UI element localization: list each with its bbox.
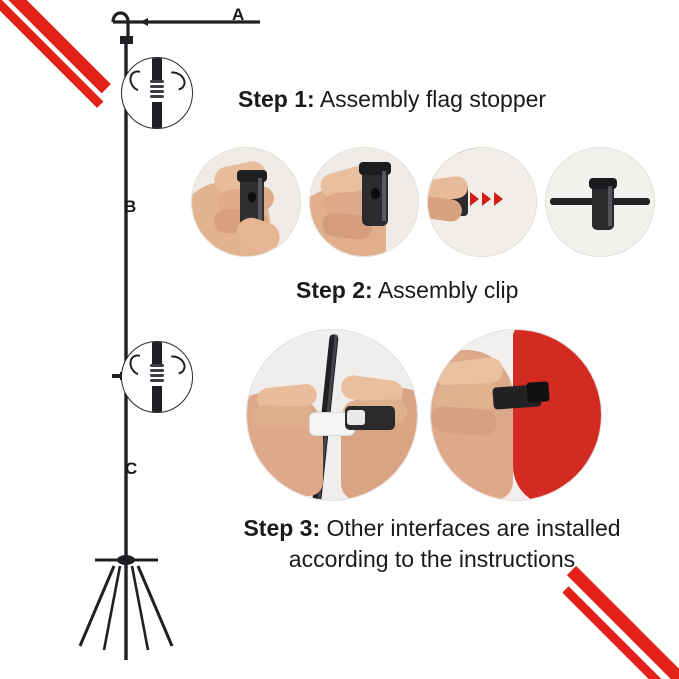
top-threaded-joint-detail-icon bbox=[121, 57, 193, 129]
step-3-text: Other interfaces are installed bbox=[327, 515, 621, 541]
pole-label-c: C bbox=[125, 459, 137, 479]
instruction-sheet: A B C Step 1: Assembly flag stopper bbox=[0, 0, 679, 679]
step-2-label: Step 2: bbox=[296, 277, 373, 303]
photo-stopper-mounted-on-rod bbox=[545, 147, 655, 257]
photo-two-hands-attaching-clip-to-pole bbox=[246, 329, 418, 501]
step-3-label: Step 3: bbox=[243, 515, 320, 541]
lower-threaded-joint-detail-icon bbox=[121, 341, 193, 413]
photo-hand-holding-stopper bbox=[191, 147, 301, 257]
photo-clip-attached-to-red-flag bbox=[430, 329, 602, 501]
pole-label-b: B bbox=[124, 197, 136, 217]
photo-stopper-closeup-in-fingers bbox=[309, 147, 419, 257]
pole-label-a: A bbox=[232, 5, 244, 25]
step-1-label: Step 1: bbox=[238, 86, 315, 112]
step-2-title: Step 2: Assembly clip bbox=[296, 277, 518, 304]
step-1-title: Step 1: Assembly flag stopper bbox=[238, 86, 546, 113]
step-2-text: Assembly clip bbox=[378, 277, 519, 303]
photo-stopper-inserted-into-rod bbox=[427, 147, 537, 257]
step-3-title: Step 3: Other interfaces are installed a… bbox=[186, 513, 678, 575]
step-1-text: Assembly flag stopper bbox=[320, 86, 546, 112]
step-3-text-line-2: according to the instructions bbox=[186, 544, 678, 575]
